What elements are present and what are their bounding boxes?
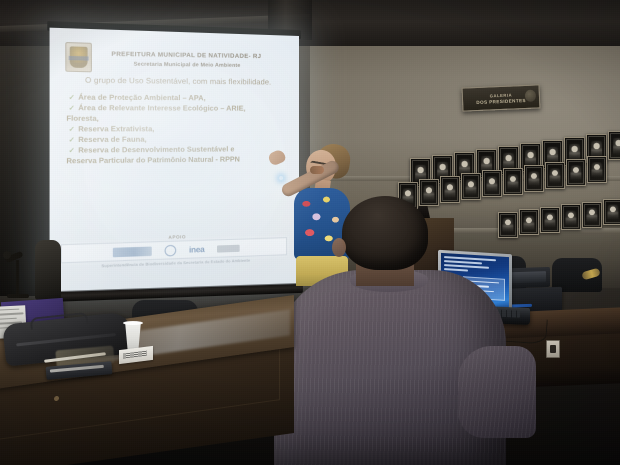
list-item: ✓ Reserva de Fauna, [64, 134, 290, 145]
portrait-frame [482, 170, 502, 197]
bullet-continuation: Floresta, [66, 114, 290, 124]
photo-scene: GALERIA DOS PRESIDENTES PREFEITURA MUNIC… [0, 0, 620, 465]
cup-rim [123, 321, 143, 325]
bullet-text: Reserva de Fauna, [78, 134, 290, 145]
slide-footer: APOIO inea Superintendência de Biodivers… [61, 231, 287, 270]
bullet-text: Área de Relevante Interesse Ecológico – … [78, 103, 290, 114]
slide-lead-text: O grupo de Uso Sustentável, com mais fle… [66, 75, 288, 87]
portrait-frame [524, 165, 544, 192]
screen-surface: PREFEITURA MUNICIPAL DE NATIVIDADE- RJ S… [50, 28, 299, 293]
slide-header-line-2: Secretaria Municipal de Meio Ambiente [80, 60, 290, 69]
portrait-frame [545, 162, 565, 189]
wall-outlet [546, 340, 560, 358]
check-icon: ✓ [64, 146, 75, 156]
operator-arm [458, 346, 536, 438]
portrait-frame [566, 159, 586, 186]
check-icon: ✓ [64, 124, 75, 134]
portrait-frame [503, 168, 523, 195]
slide-header: PREFEITURA MUNICIPAL DE NATIVIDADE- RJ S… [60, 49, 290, 70]
projector-screen: PREFEITURA MUNICIPAL DE NATIVIDADE- RJ S… [50, 28, 299, 293]
list-item: ✓ Reserva Extrativista, [64, 124, 290, 134]
microphone-stand [4, 248, 32, 304]
list-item: ✓ Área de Relevante Interesse Ecológico … [64, 103, 290, 114]
list-item: ✓ Área de Proteção Ambiental – APA, [64, 93, 290, 104]
portrait-frame [561, 204, 581, 230]
sponsor-logo-icon [113, 246, 152, 257]
inea-logo-text: inea [189, 244, 204, 254]
slide-bullet-list: ✓ Área de Proteção Ambiental – APA, ✓ Ár… [64, 93, 290, 168]
operator-head [342, 196, 428, 270]
sponsor-ring-icon [165, 244, 177, 256]
slide-last-line: Reserva Particular do Patrimônio Natural… [66, 155, 290, 167]
bullet-text: Reserva Extrativista, [78, 124, 290, 134]
portrait-frame [608, 131, 620, 160]
check-icon: ✓ [64, 93, 75, 103]
slide-content: PREFEITURA MUNICIPAL DE NATIVIDADE- RJ S… [50, 28, 299, 293]
microphone-icon [3, 251, 11, 259]
slide-header-line-1: PREFEITURA MUNICIPAL DE NATIVIDADE- RJ [80, 51, 290, 60]
loudspeaker [35, 240, 61, 300]
check-icon: ✓ [64, 103, 75, 113]
check-icon: ✓ [64, 135, 75, 145]
portrait-frame [582, 202, 602, 228]
portrait-frame [603, 199, 620, 225]
seated-operator [288, 196, 546, 465]
bullet-text: Reserva de Desenvolvimento Sustentável e [78, 145, 290, 157]
sponsor-block-icon [217, 244, 240, 252]
bullet-text: Área de Proteção Ambiental – APA, [78, 93, 290, 104]
list-item: ✓ Reserva de Desenvolvimento Sustentável… [64, 145, 290, 157]
portrait-frame [587, 156, 607, 183]
